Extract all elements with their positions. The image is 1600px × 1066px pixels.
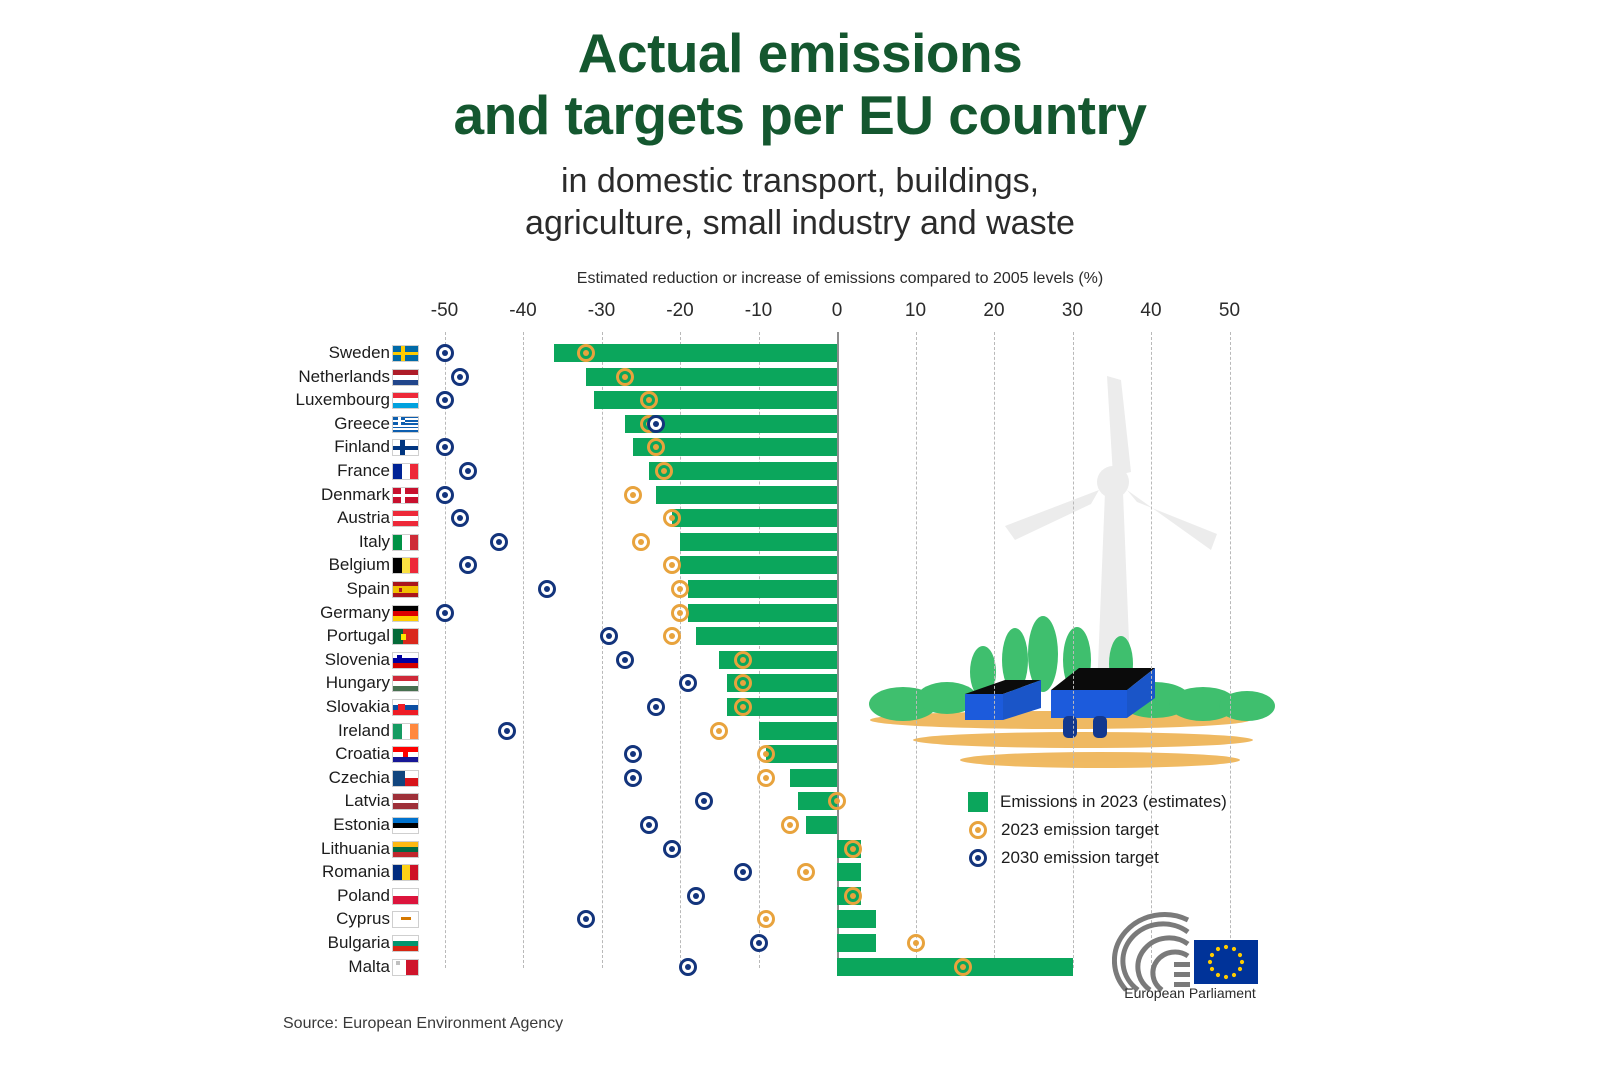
flag-icon-lu xyxy=(392,392,419,409)
flag-icon-sk xyxy=(392,699,419,716)
target-2023-marker xyxy=(632,533,650,551)
target-2023-marker xyxy=(757,910,775,928)
x-axis-caption: Estimated reduction or increase of emiss… xyxy=(300,270,1380,288)
flag-icon-hu xyxy=(392,675,419,692)
target-2023-marker xyxy=(757,769,775,787)
country-label-ie: Ireland xyxy=(90,721,390,741)
emissions-bar xyxy=(656,486,837,504)
chart-row: Czechia xyxy=(0,767,1600,789)
chart-row: Slovakia xyxy=(0,696,1600,718)
target-2030-marker xyxy=(498,722,516,740)
emissions-bar xyxy=(837,863,861,881)
emissions-bar xyxy=(766,745,837,763)
flag-icon-ee xyxy=(392,817,419,834)
legend-item-target-2023: 2023 emission target xyxy=(968,816,1227,844)
flag-icon-bg xyxy=(392,935,419,952)
emissions-bar xyxy=(790,769,837,787)
target-2030-marker xyxy=(436,344,454,362)
target-2030-marker xyxy=(459,462,477,480)
target-2030-marker xyxy=(695,792,713,810)
country-label-fr: France xyxy=(90,461,390,481)
country-label-be: Belgium xyxy=(90,555,390,575)
flag-icon-be xyxy=(392,557,419,574)
country-label-si: Slovenia xyxy=(90,650,390,670)
target-2030-marker xyxy=(436,438,454,456)
target-2030-marker xyxy=(679,674,697,692)
chart-row: Belgium xyxy=(0,554,1600,576)
target-2030-marker xyxy=(490,533,508,551)
emissions-bar xyxy=(837,934,876,952)
target-2030-marker xyxy=(750,934,768,952)
country-label-lu: Luxembourg xyxy=(90,390,390,410)
flag-icon-nl xyxy=(392,369,419,386)
page-subtitle: in domestic transport, buildings, agricu… xyxy=(0,160,1600,244)
country-label-bg: Bulgaria xyxy=(90,933,390,953)
country-label-it: Italy xyxy=(90,532,390,552)
target-2030-marker xyxy=(687,887,705,905)
country-label-es: Spain xyxy=(90,579,390,599)
target-2030-marker xyxy=(663,840,681,858)
chart-row: Greece xyxy=(0,413,1600,435)
x-tick-label-30: 30 xyxy=(1062,300,1083,322)
target-2030-marker xyxy=(734,863,752,881)
flag-icon-fi xyxy=(392,439,419,456)
flag-icon-ro xyxy=(392,864,419,881)
x-tick-label-40: 40 xyxy=(1140,300,1161,322)
target-2023-marker xyxy=(616,368,634,386)
country-label-mt: Malta xyxy=(90,957,390,977)
target-2023-marker xyxy=(734,698,752,716)
target-2023-marker xyxy=(577,344,595,362)
chart-row: Ireland xyxy=(0,720,1600,742)
flag-icon-ie xyxy=(392,723,419,740)
x-tick-label--40: -40 xyxy=(509,300,536,322)
chart-row: Italy xyxy=(0,531,1600,553)
country-label-nl: Netherlands xyxy=(90,367,390,387)
emissions-bar xyxy=(806,816,837,834)
flag-icon-si xyxy=(392,652,419,669)
target-2023-marker xyxy=(663,627,681,645)
chart-row: Spain xyxy=(0,578,1600,600)
target-2023-marker-icon xyxy=(969,821,987,839)
bar-chart-plot: -50-40-30-20-1001020304050SwedenNetherla… xyxy=(0,300,1600,1000)
target-2030-marker xyxy=(600,627,618,645)
emissions-bar xyxy=(688,604,837,622)
emissions-bar xyxy=(554,344,837,362)
chart-row: Germany xyxy=(0,602,1600,624)
target-2023-marker xyxy=(781,816,799,834)
flag-icon-it xyxy=(392,534,419,551)
flag-icon-cy xyxy=(392,911,419,928)
emissions-bar xyxy=(680,533,837,551)
country-label-pl: Poland xyxy=(90,886,390,906)
country-label-dk: Denmark xyxy=(90,485,390,505)
flag-icon-se xyxy=(392,345,419,362)
target-2030-marker xyxy=(538,580,556,598)
emissions-bar xyxy=(837,910,876,928)
country-label-lv: Latvia xyxy=(90,791,390,811)
chart-row: Romania xyxy=(0,861,1600,883)
legend-label-target-2023: 2023 emission target xyxy=(1001,820,1159,840)
target-2030-marker xyxy=(459,556,477,574)
target-2030-marker xyxy=(624,769,642,787)
title-line-1: Actual emissions xyxy=(0,22,1600,84)
country-label-lt: Lithuania xyxy=(90,839,390,859)
chart-legend: Emissions in 2023 (estimates) 2023 emiss… xyxy=(968,788,1227,872)
chart-row: Slovenia xyxy=(0,649,1600,671)
flag-icon-gr xyxy=(392,416,419,433)
target-2023-marker xyxy=(954,958,972,976)
target-2030-marker xyxy=(679,958,697,976)
x-tick-label-10: 10 xyxy=(905,300,926,322)
x-tick-label-20: 20 xyxy=(983,300,1004,322)
flag-icon-hr xyxy=(392,746,419,763)
target-2030-marker xyxy=(436,391,454,409)
chart-row: Estonia xyxy=(0,814,1600,836)
target-2030-marker xyxy=(624,745,642,763)
chart-row: France xyxy=(0,460,1600,482)
emissions-bar xyxy=(672,509,837,527)
target-2023-marker xyxy=(844,840,862,858)
country-label-at: Austria xyxy=(90,508,390,528)
chart-row: Malta xyxy=(0,956,1600,978)
target-2030-marker xyxy=(436,604,454,622)
country-label-fi: Finland xyxy=(90,437,390,457)
target-2023-marker xyxy=(828,792,846,810)
target-2030-marker xyxy=(451,368,469,386)
x-tick-label-50: 50 xyxy=(1219,300,1240,322)
x-tick-label--20: -20 xyxy=(666,300,693,322)
chart-row: Luxembourg xyxy=(0,389,1600,411)
legend-label-target-2030: 2030 emission target xyxy=(1001,848,1159,868)
target-2023-marker xyxy=(734,651,752,669)
flag-icon-lv xyxy=(392,793,419,810)
chart-row: Latvia xyxy=(0,790,1600,812)
flag-icon-es xyxy=(392,581,419,598)
target-2023-marker xyxy=(671,580,689,598)
flag-icon-de xyxy=(392,605,419,622)
chart-row: Portugal xyxy=(0,625,1600,647)
target-2023-marker xyxy=(907,934,925,952)
country-label-cz: Czechia xyxy=(90,768,390,788)
x-tick-label--50: -50 xyxy=(431,300,458,322)
infographic-page: Actual emissions and targets per EU coun… xyxy=(0,0,1600,1066)
chart-row: Lithuania xyxy=(0,838,1600,860)
target-2023-marker xyxy=(640,391,658,409)
target-2023-marker xyxy=(671,604,689,622)
chart-row: Denmark xyxy=(0,484,1600,506)
title-line-2: and targets per EU country xyxy=(0,84,1600,146)
country-label-cy: Cyprus xyxy=(90,909,390,929)
page-title: Actual emissions and targets per EU coun… xyxy=(0,22,1600,146)
flag-icon-mt xyxy=(392,959,419,976)
emissions-bar xyxy=(594,391,837,409)
ep-logo-caption: European Parliament xyxy=(1100,985,1280,1001)
chart-row: Austria xyxy=(0,507,1600,529)
chart-row: Poland xyxy=(0,885,1600,907)
target-2030-marker xyxy=(577,910,595,928)
country-label-pt: Portugal xyxy=(90,626,390,646)
target-2023-marker xyxy=(710,722,728,740)
x-tick-label-0: 0 xyxy=(832,300,843,322)
chart-row: Finland xyxy=(0,436,1600,458)
chart-row: Bulgaria xyxy=(0,932,1600,954)
target-2030-marker xyxy=(647,698,665,716)
emissions-bar xyxy=(688,580,837,598)
target-2030-marker xyxy=(451,509,469,527)
target-2030-marker xyxy=(616,651,634,669)
target-2023-marker xyxy=(624,486,642,504)
country-label-sk: Slovakia xyxy=(90,697,390,717)
flag-icon-lt xyxy=(392,841,419,858)
legend-item-target-2030: 2030 emission target xyxy=(968,844,1227,872)
chart-row: Hungary xyxy=(0,672,1600,694)
emissions-bar xyxy=(680,556,837,574)
legend-item-emissions: Emissions in 2023 (estimates) xyxy=(968,788,1227,816)
x-tick-label--10: -10 xyxy=(745,300,772,322)
subtitle-line-1: in domestic transport, buildings, xyxy=(0,160,1600,202)
emissions-bar xyxy=(649,462,837,480)
flag-icon-at xyxy=(392,510,419,527)
x-tick-label--30: -30 xyxy=(588,300,615,322)
target-2030-marker xyxy=(640,816,658,834)
chart-row: Croatia xyxy=(0,743,1600,765)
emissions-bar xyxy=(759,722,838,740)
target-2023-marker xyxy=(663,556,681,574)
country-label-hu: Hungary xyxy=(90,673,390,693)
target-2030-marker xyxy=(436,486,454,504)
country-label-de: Germany xyxy=(90,603,390,623)
target-2023-marker xyxy=(844,887,862,905)
chart-row: Cyprus xyxy=(0,908,1600,930)
country-label-se: Sweden xyxy=(90,343,390,363)
chart-row: Netherlands xyxy=(0,366,1600,388)
country-label-ee: Estonia xyxy=(90,815,390,835)
flag-icon-pt xyxy=(392,628,419,645)
target-2023-marker xyxy=(797,863,815,881)
flag-icon-pl xyxy=(392,888,419,905)
emissions-bar xyxy=(696,627,837,645)
subtitle-line-2: agriculture, small industry and waste xyxy=(0,202,1600,244)
legend-label-emissions: Emissions in 2023 (estimates) xyxy=(1000,792,1227,812)
source-note: Source: European Environment Agency xyxy=(283,1015,563,1033)
flag-icon-dk xyxy=(392,487,419,504)
chart-row: Sweden xyxy=(0,342,1600,364)
green-square-icon xyxy=(968,792,988,812)
country-label-hr: Croatia xyxy=(90,744,390,764)
flag-icon-cz xyxy=(392,770,419,787)
country-label-gr: Greece xyxy=(90,414,390,434)
country-label-ro: Romania xyxy=(90,862,390,882)
flag-icon-fr xyxy=(392,463,419,480)
target-2030-marker-icon xyxy=(969,849,987,867)
